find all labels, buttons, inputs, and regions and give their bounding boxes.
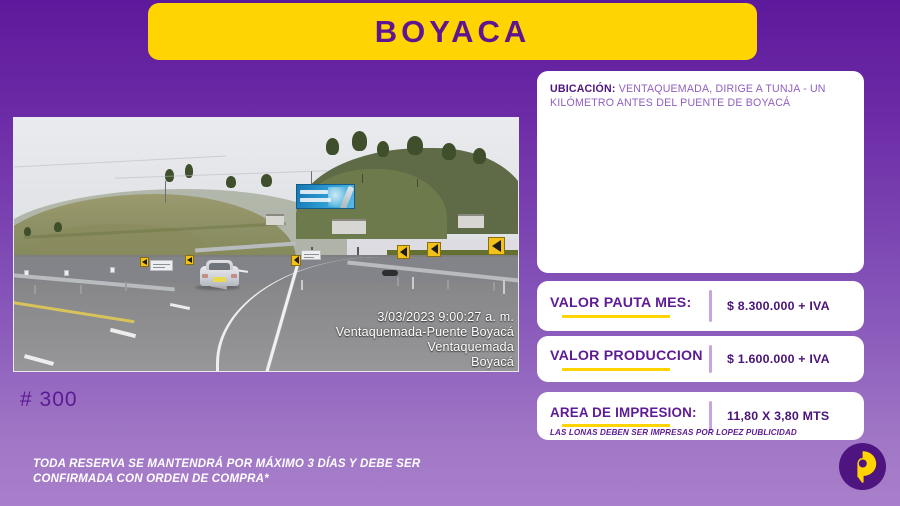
photo-info-sign-line: [304, 257, 314, 258]
area-de-impresion-panel: AREA DE IMPRESION: 11,80 X 3,80 MTS LAS …: [537, 392, 864, 440]
photo-guardrail-post: [447, 280, 449, 289]
chevron-left-icon: [142, 259, 147, 265]
photo-timestamp-overlay: 3/03/2023 9:00:27 a. m. Ventaquemada-Pue…: [336, 310, 514, 370]
photo-tree: [352, 131, 367, 151]
photo-chevron-sign: [488, 237, 505, 255]
photo-chevron-sign: [397, 245, 410, 259]
photo-info-sign-line: [153, 267, 165, 268]
chevron-left-icon: [431, 244, 438, 254]
photo-chevron-sign: [185, 255, 194, 265]
photo-tree: [226, 176, 236, 188]
page-title: BOYACA: [375, 14, 531, 50]
photo-info-sign: [64, 270, 69, 276]
photo-roadside-building: [458, 214, 484, 228]
photo-tree: [377, 141, 389, 157]
valor-produccion-value: $ 1.600.000 + IVA: [727, 352, 830, 366]
overlay-timestamp: 3/03/2023 9:00:27 a. m.: [336, 310, 514, 325]
location-text: UBICACIÓN: VENTAQUEMADA, DIRIGE A TUNJA …: [550, 82, 851, 110]
lopez-publicidad-logo: [839, 443, 886, 490]
photo-tree: [54, 222, 62, 232]
photo-car-plate: [213, 277, 226, 282]
valor-pauta-mes-label-group: VALOR PAUTA MES:: [537, 281, 709, 331]
valor-produccion-label: VALOR PRODUCCION: [550, 348, 709, 364]
photo-billboard-text-line: [300, 190, 328, 194]
reference-number: # 300: [20, 388, 78, 412]
chevron-left-icon: [492, 240, 501, 252]
photo-sign-post: [301, 280, 303, 290]
photo-info-sign: [110, 267, 115, 273]
label-underline: [562, 315, 670, 318]
photo-chevron-sign: [427, 242, 441, 257]
photo-tree: [407, 136, 423, 155]
photo-tree: [24, 227, 31, 236]
site-photo: 3/03/2023 9:00:27 a. m. Ventaquemada-Pue…: [14, 118, 518, 371]
photo-tire-barrier: [382, 270, 398, 276]
photo-tree: [261, 174, 272, 187]
valor-produccion-panel: VALOR PRODUCCION $ 1.600.000 + IVA: [537, 336, 864, 382]
valor-produccion-label-group: VALOR PRODUCCION: [537, 336, 709, 382]
location-panel: UBICACIÓN: VENTAQUEMADA, DIRIGE A TUNJA …: [537, 71, 864, 273]
photo-roadside-building: [266, 214, 284, 225]
area-de-impresion-label: AREA DE IMPRESION:: [550, 405, 709, 420]
overlay-department: Boyacá: [336, 355, 514, 370]
label-underline: [562, 424, 670, 427]
photo-tree-trunk: [417, 179, 418, 187]
photo-tree: [442, 143, 456, 160]
site-photo-frame: 3/03/2023 9:00:27 a. m. Ventaquemada-Pue…: [13, 117, 519, 372]
valor-pauta-mes-value-group: $ 8.300.000 + IVA: [712, 281, 864, 331]
photo-tree: [473, 148, 486, 164]
photo-chevron-sign: [291, 255, 301, 266]
photo-guardrail-post: [80, 285, 82, 294]
photo-chevron-sign: [140, 257, 149, 267]
valor-pauta-mes-label: VALOR PAUTA MES:: [550, 295, 709, 311]
photo-guardrail-post: [125, 282, 127, 291]
photo-info-sign: [301, 250, 321, 260]
photo-car: [200, 260, 239, 290]
chevron-left-icon: [400, 247, 407, 257]
valor-pauta-mes-value: $ 8.300.000 + IVA: [727, 299, 830, 313]
title-banner: BOYACA: [148, 3, 757, 60]
photo-sign-post: [503, 280, 505, 294]
photo-tree: [326, 138, 339, 155]
photo-car-taillight: [231, 274, 237, 278]
valor-pauta-mes-panel: VALOR PAUTA MES: $ 8.300.000 + IVA: [537, 281, 864, 331]
photo-info-sign: [24, 270, 29, 276]
reservation-disclaimer: TODA RESERVA SE MANTENDRÁ POR MÁXIMO 3 D…: [33, 457, 503, 487]
logo-pin-p-icon: [848, 450, 878, 484]
photo-car-taillight: [202, 274, 208, 278]
label-underline: [562, 368, 670, 371]
photo-billboard-text-line: [300, 198, 331, 202]
photo-billboard: [296, 184, 355, 209]
area-de-impresion-value: 11,80 X 3,80 MTS: [727, 409, 829, 423]
chevron-left-icon: [294, 256, 299, 264]
photo-info-sign-line: [304, 254, 319, 255]
photo-info-sign-line: [153, 264, 170, 265]
overlay-route: Ventaquemada-Puente Boyacá: [336, 325, 514, 340]
photo-guardrail-post: [34, 285, 36, 294]
photo-roadside-building: [332, 219, 366, 234]
printing-provider-note: LAS LONAS DEBEN SER IMPRESAS POR LOPEZ P…: [550, 428, 797, 437]
photo-tree-trunk: [362, 174, 363, 183]
valor-produccion-value-group: $ 1.600.000 + IVA: [712, 336, 864, 382]
photo-guardrail-post: [493, 282, 495, 291]
overlay-municipality: Ventaquemada: [336, 340, 514, 355]
location-label: UBICACIÓN:: [550, 83, 616, 95]
chevron-left-icon: [187, 257, 192, 263]
photo-sign-post: [412, 277, 414, 289]
photo-info-sign: [150, 260, 173, 271]
photo-car-rear-window: [209, 263, 230, 270]
photo-guardrail-post: [397, 277, 399, 286]
photo-utility-pole: [165, 181, 166, 203]
